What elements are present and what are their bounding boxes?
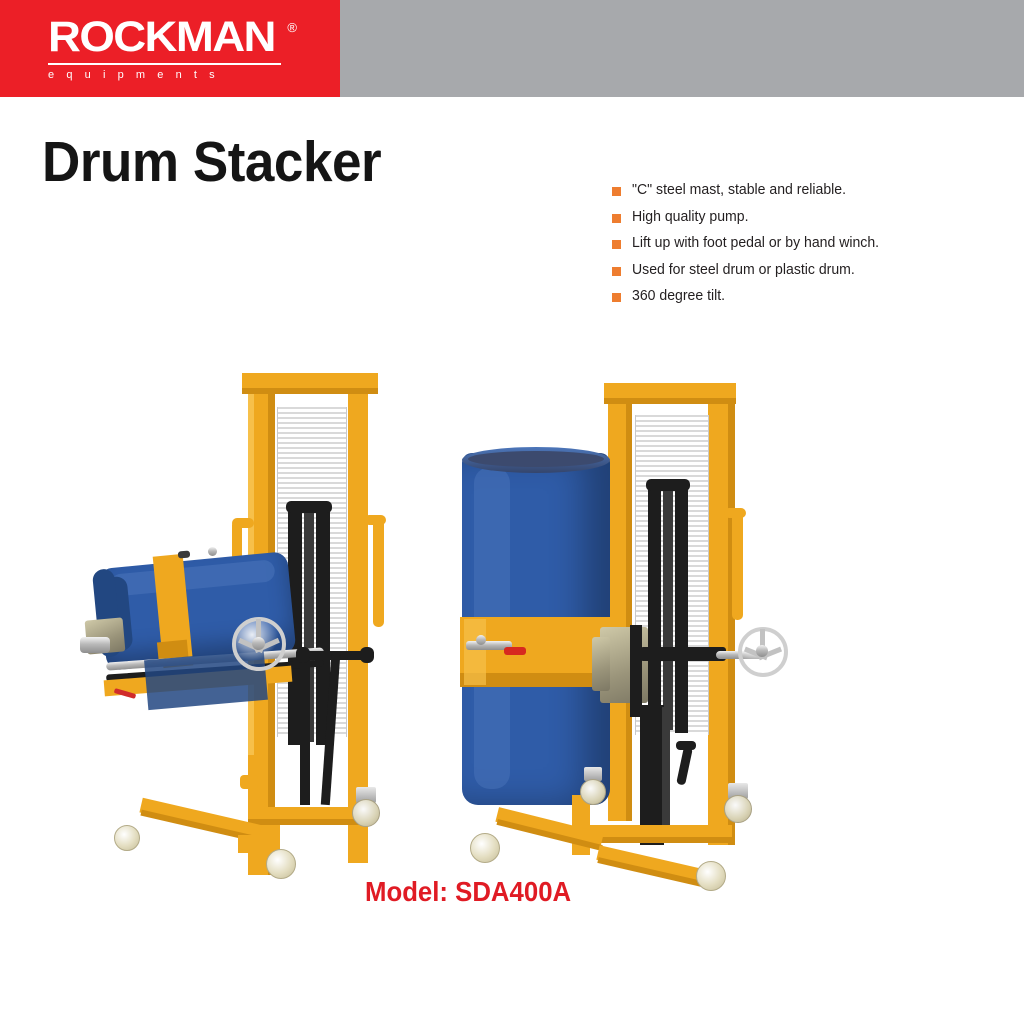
bullet-square-icon <box>612 240 621 249</box>
brand-wordmark: ROCKMAN <box>48 14 308 60</box>
feature-text: High quality pump. <box>632 209 748 225</box>
list-item: Lift up with foot pedal or by hand winch… <box>612 235 952 251</box>
list-item: 360 degree tilt. <box>612 288 952 304</box>
list-item: Used for steel drum or plastic drum. <box>612 262 952 278</box>
page-title: Drum Stacker <box>42 131 381 193</box>
feature-text: "C" steel mast, stable and reliable. <box>632 182 846 198</box>
list-item: High quality pump. <box>612 209 952 225</box>
feature-text: Lift up with foot pedal or by hand winch… <box>632 235 879 251</box>
feature-text: 360 degree tilt. <box>632 288 725 304</box>
product-image-drum-stacker-tilted <box>120 355 440 895</box>
list-item: "C" steel mast, stable and reliable. <box>612 182 952 198</box>
bullet-square-icon <box>612 187 621 196</box>
registered-trademark-icon: ® <box>287 20 297 35</box>
product-image-drum-stacker-upright <box>480 355 800 895</box>
feature-list: "C" steel mast, stable and reliable. Hig… <box>612 182 952 315</box>
page-header: ROCKMAN ® equipments <box>0 0 1024 97</box>
product-photos <box>0 355 1024 915</box>
logo-divider <box>48 63 281 65</box>
bullet-square-icon <box>612 214 621 223</box>
bullet-square-icon <box>612 293 621 302</box>
brand-logo: ROCKMAN ® equipments <box>48 14 293 81</box>
model-caption: Model: SDA400A <box>365 876 571 908</box>
bullet-square-icon <box>612 267 621 276</box>
brand-tagline: equipments <box>48 69 293 81</box>
feature-text: Used for steel drum or plastic drum. <box>632 262 855 278</box>
